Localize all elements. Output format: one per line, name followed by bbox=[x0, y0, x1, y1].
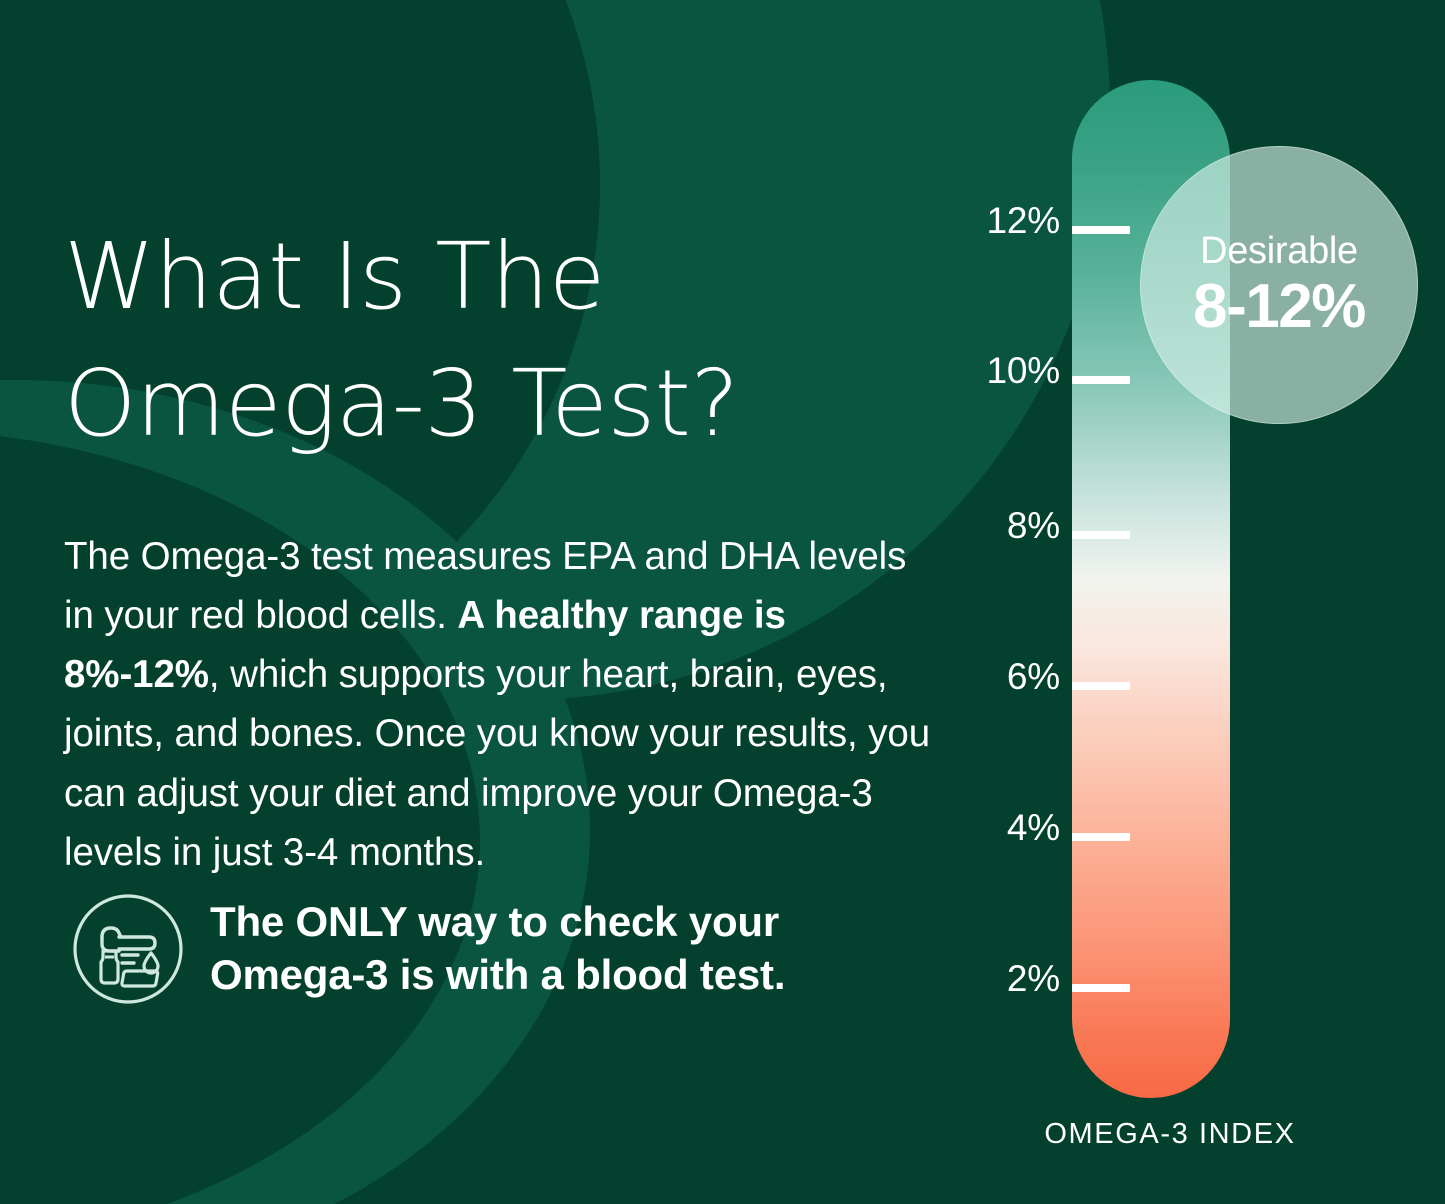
infographic-root: What Is The Omega-3 Test? The Omega-3 te… bbox=[0, 0, 1445, 1204]
gauge-tick-label-6: 6% bbox=[940, 656, 1060, 698]
gauge-tick-4 bbox=[1072, 833, 1130, 841]
desirable-label: Desirable bbox=[1200, 232, 1358, 270]
gauge-tick-label-12: 12% bbox=[940, 200, 1060, 242]
desirable-range-badge: Desirable 8-12% bbox=[1140, 146, 1418, 424]
body-paragraph: The Omega-3 test measures EPA and DHA le… bbox=[64, 527, 944, 883]
gauge-tick-label-8: 8% bbox=[940, 505, 1060, 547]
gauge-tick-10 bbox=[1072, 376, 1130, 384]
desirable-value: 8-12% bbox=[1193, 276, 1365, 338]
blood-test-callout: The ONLY way to check your Omega-3 is wi… bbox=[72, 893, 952, 1005]
gauge-tick-8 bbox=[1072, 531, 1130, 539]
axis-caption: OMEGA-3 INDEX bbox=[960, 1118, 1380, 1151]
gauge-tick-12 bbox=[1072, 226, 1130, 234]
content-column: What Is The Omega-3 Test? The Omega-3 te… bbox=[64, 0, 964, 1204]
callout-text: The ONLY way to check your Omega-3 is wi… bbox=[210, 896, 785, 1002]
gauge-tick-label-10: 10% bbox=[940, 350, 1060, 392]
gauge-tick-label-2: 2% bbox=[940, 958, 1060, 1000]
gauge-tick-6 bbox=[1072, 682, 1130, 690]
page-title: What Is The Omega-3 Test? bbox=[64, 214, 964, 468]
blood-test-icon bbox=[72, 893, 184, 1005]
gauge-tick-label-4: 4% bbox=[940, 807, 1060, 849]
gauge-tick-2 bbox=[1072, 984, 1130, 992]
omega3-index-gauge: 12%10%8%6%4%2% Desirable 8-12% OMEGA-3 I… bbox=[960, 0, 1445, 1204]
